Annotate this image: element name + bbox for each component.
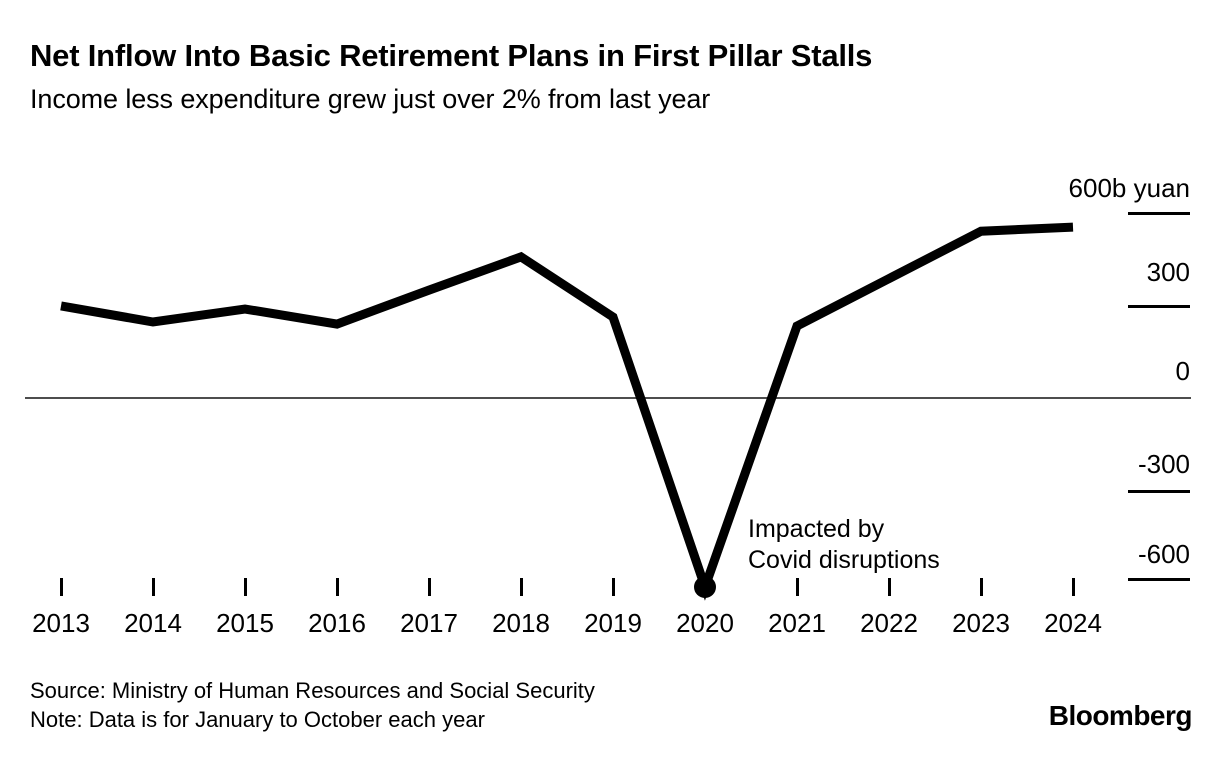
data-note: Note: Data is for January to October eac… xyxy=(30,705,595,734)
x-tick-2023 xyxy=(980,578,983,596)
annotation-line-1: Impacted by xyxy=(748,514,940,545)
x-tick-2019 xyxy=(612,578,615,596)
series-line-net-inflow xyxy=(0,0,1224,776)
x-tick-2017 xyxy=(428,578,431,596)
x-tick-2022 xyxy=(888,578,891,596)
x-tick-2020 xyxy=(704,578,707,596)
x-tick-2024 xyxy=(1072,578,1075,596)
chart-page: Net Inflow Into Basic Retirement Plans i… xyxy=(0,0,1224,776)
chart-annotation: Impacted by Covid disruptions xyxy=(748,514,940,576)
plot-area: 600b yuan 300 0 -300 -600 2013 2014 2015… xyxy=(0,0,1224,776)
x-tick-2015 xyxy=(244,578,247,596)
source-note: Source: Ministry of Human Resources and … xyxy=(30,676,595,705)
bloomberg-logo: Bloomberg xyxy=(1049,700,1192,732)
x-tick-2014 xyxy=(152,578,155,596)
chart-footer: Source: Ministry of Human Resources and … xyxy=(30,676,595,734)
x-tick-2018 xyxy=(520,578,523,596)
x-tick-2021 xyxy=(796,578,799,596)
x-axis-label-2024: 2024 xyxy=(1018,608,1128,638)
annotation-line-2: Covid disruptions xyxy=(748,545,940,576)
x-tick-2013 xyxy=(60,578,63,596)
x-tick-2016 xyxy=(336,578,339,596)
